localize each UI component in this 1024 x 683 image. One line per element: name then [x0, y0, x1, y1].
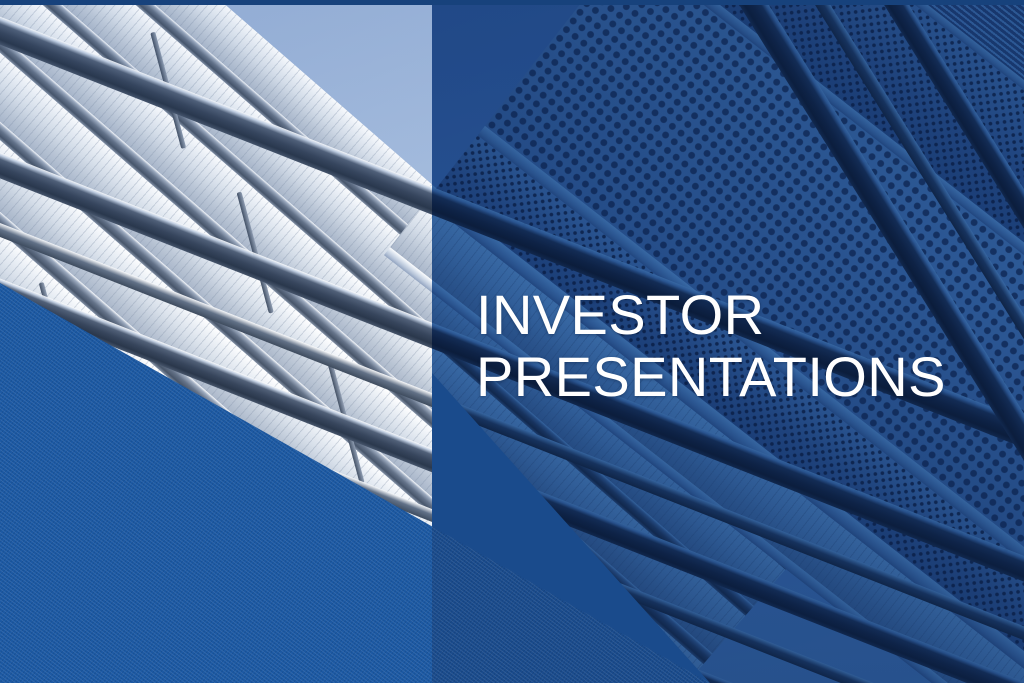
slide-investor-presentations: INVESTOR PRESENTATIONS [0, 0, 1024, 683]
slide-title-line-1: INVESTOR [476, 284, 1006, 346]
slide-title-line-2: PRESENTATIONS [476, 346, 1006, 408]
slide-title: INVESTOR PRESENTATIONS [476, 284, 1006, 408]
top-accent-band [0, 0, 1024, 5]
